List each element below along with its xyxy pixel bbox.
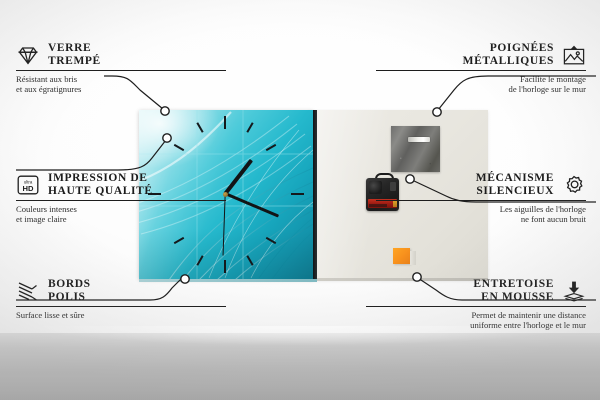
divider	[16, 200, 226, 201]
hour-mark	[291, 193, 304, 195]
picture-frame-hanger-icon	[562, 44, 586, 66]
feature-description: Couleurs intenses et image claire	[16, 204, 226, 224]
hour-mark	[224, 116, 226, 129]
feature-heading-row: VERRE TREMPÉ	[16, 42, 226, 67]
feature-entretoise-en-mousse: ENTRETOISE EN MOUSSE Permet de maint	[366, 278, 586, 331]
divider	[376, 70, 586, 71]
feature-heading-row: ultra HD IMPRESSION DE HAUTE QUALITÉ	[16, 172, 226, 197]
feature-bords-polis: BORDS POLIS Surface lisse et sûre	[16, 278, 226, 320]
feature-title: VERRE TREMPÉ	[48, 42, 101, 67]
feature-title: POIGNÉES MÉTALLIQUES	[463, 42, 554, 67]
feature-title: ENTRETOISE EN MOUSSE	[473, 278, 554, 303]
metal-hanger-plate	[391, 126, 440, 172]
clock-side-edge	[313, 110, 317, 279]
diagonal-lines-icon	[16, 280, 40, 302]
feature-heading-row: ENTRETOISE EN MOUSSE	[366, 278, 586, 303]
feature-impression-haute-qualite: ultra HD IMPRESSION DE HAUTE QUALITÉ Cou…	[16, 172, 226, 225]
hour-mark	[224, 260, 226, 273]
feature-verre-trempe: VERRE TREMPÉ Résistant aux bris et aux é…	[16, 42, 226, 95]
infographic-canvas: VERRE TREMPÉ Résistant aux bris et aux é…	[0, 0, 600, 400]
hd-label: HD	[23, 184, 34, 193]
arrow-down-layers-icon	[562, 280, 586, 302]
divider	[16, 70, 226, 71]
feature-heading-row: MÉCANISME SILENCIEUX	[376, 172, 586, 197]
metal-texture	[391, 126, 440, 172]
ultra-hd-badge-icon: ultra HD	[16, 174, 40, 196]
feature-title: MÉCANISME SILENCIEUX	[476, 172, 554, 197]
gear-icon	[562, 174, 586, 196]
feature-poignees-metalliques: POIGNÉES MÉTALLIQUES Facilite le montage…	[376, 42, 586, 95]
feature-description: Permet de maintenir une distance uniform…	[366, 310, 586, 330]
feature-heading-row: POIGNÉES MÉTALLIQUES	[376, 42, 586, 67]
foam-spacer	[393, 248, 410, 264]
feature-description: Facilite le montage de l'horloge sur le …	[376, 74, 586, 94]
feature-mecanisme-silencieux: MÉCANISME SILENCIEUX Les aiguilles de l'…	[376, 172, 586, 225]
feature-description: Surface lisse et sûre	[16, 310, 226, 320]
feature-description: Résistant aux bris et aux égratignures	[16, 74, 226, 94]
foam-spacer-shadow	[410, 251, 416, 265]
feature-heading-row: BORDS POLIS	[16, 278, 226, 303]
feature-title: BORDS POLIS	[48, 278, 91, 303]
feature-description: Les aiguilles de l'horloge ne font aucun…	[376, 204, 586, 224]
feature-title: IMPRESSION DE HAUTE QUALITÉ	[48, 172, 153, 197]
diamond-icon	[16, 44, 40, 66]
divider	[366, 306, 586, 307]
hanger-slot	[408, 137, 430, 142]
divider	[16, 306, 226, 307]
divider	[376, 200, 586, 201]
